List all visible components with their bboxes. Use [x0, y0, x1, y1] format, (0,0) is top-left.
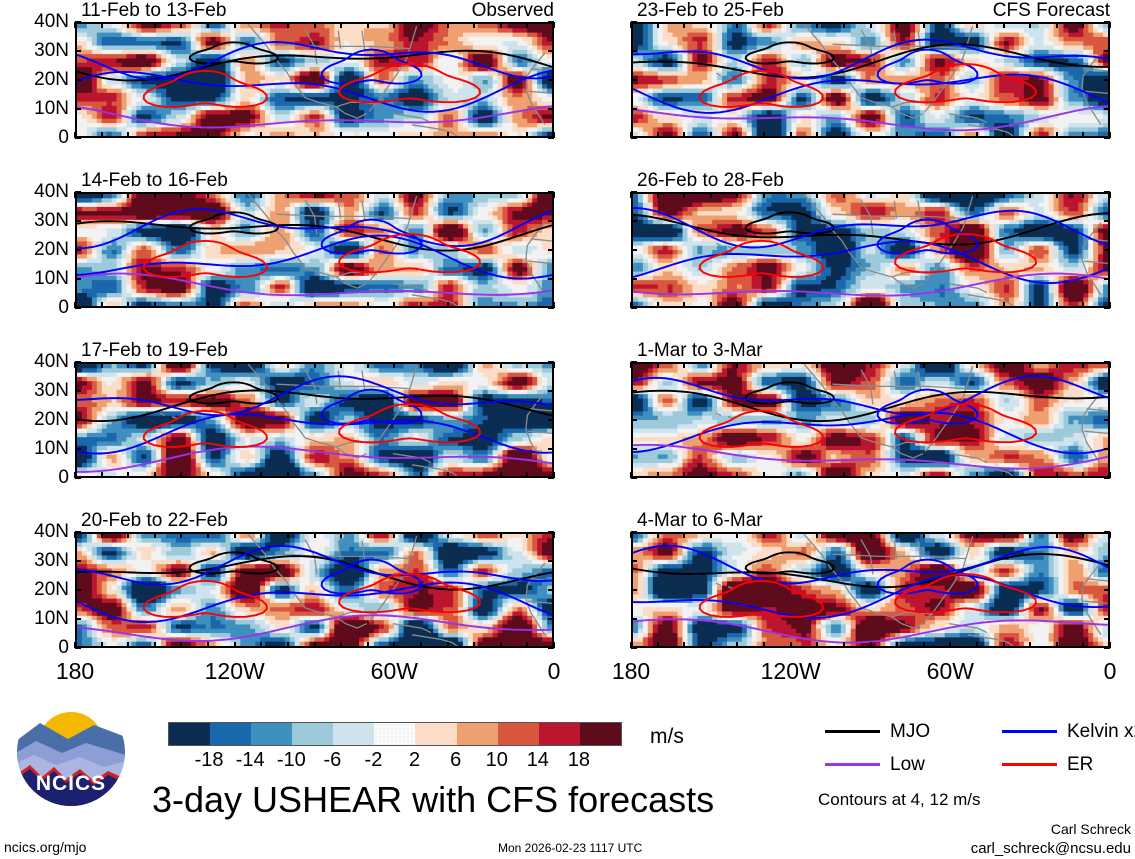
x-tick — [127, 472, 129, 478]
y-tick — [548, 560, 554, 562]
x-tick — [843, 642, 845, 648]
x-tick — [180, 642, 182, 648]
x-tick — [683, 22, 685, 28]
y-tick — [631, 79, 637, 81]
x-tick — [367, 22, 369, 28]
legend-line-1 — [1002, 730, 1057, 733]
legend-label-3: ER — [1067, 755, 1093, 774]
y-axis-label: 10N — [7, 269, 69, 288]
y-tick — [1104, 448, 1110, 450]
y-tick — [548, 589, 554, 591]
x-tick — [1056, 362, 1058, 368]
x-tick — [314, 192, 316, 198]
x-tick — [154, 642, 156, 648]
x-tick — [180, 192, 182, 198]
x-tick — [710, 362, 712, 368]
x-tick — [843, 472, 845, 478]
y-tick — [548, 448, 554, 450]
x-tick — [816, 532, 818, 538]
y-tick — [548, 249, 554, 251]
x-tick — [736, 192, 738, 198]
x-tick — [287, 302, 289, 308]
colorbar-segment-5 — [374, 723, 415, 745]
x-tick — [154, 302, 156, 308]
y-tick — [1104, 79, 1110, 81]
y-tick — [548, 390, 554, 392]
x-tick — [976, 642, 978, 648]
x-tick — [127, 532, 129, 538]
x-tick — [1056, 132, 1058, 138]
x-tick — [260, 22, 262, 28]
colorbar-segment-7 — [457, 723, 498, 745]
x-tick — [74, 362, 76, 368]
x-tick — [473, 192, 475, 198]
x-tick — [736, 472, 738, 478]
colorbar-segment-1 — [210, 723, 251, 745]
y-tick — [1104, 390, 1110, 392]
x-tick — [393, 22, 395, 28]
y-tick — [75, 79, 81, 81]
x-tick — [630, 22, 632, 28]
x-tick — [949, 362, 951, 368]
x-tick — [500, 302, 502, 308]
x-tick — [657, 642, 659, 648]
legend-line-0 — [825, 730, 880, 733]
x-tick — [923, 302, 925, 308]
x-tick — [553, 532, 555, 538]
x-tick — [367, 472, 369, 478]
legend-line-3 — [1002, 763, 1057, 766]
y-axis-label: 10N — [7, 439, 69, 458]
x-tick — [1082, 132, 1084, 138]
x-tick — [74, 192, 76, 198]
x-tick — [816, 642, 818, 648]
plot-panel-1-1 — [631, 192, 1110, 308]
column-header-0: Observed — [75, 1, 554, 20]
x-tick — [447, 192, 449, 198]
x-tick — [314, 532, 316, 538]
x-tick — [976, 362, 978, 368]
x-tick — [657, 22, 659, 28]
legend-label-0: MJO — [890, 722, 930, 741]
x-tick — [473, 302, 475, 308]
x-tick — [526, 302, 528, 308]
x-tick — [896, 132, 898, 138]
x-tick — [447, 132, 449, 138]
x-tick — [1029, 132, 1031, 138]
legend-label-2: Low — [890, 755, 925, 774]
x-tick — [1082, 362, 1084, 368]
plot-panel-0-2 — [75, 362, 554, 478]
x-tick — [683, 472, 685, 478]
y-tick — [75, 560, 81, 562]
x-tick — [710, 472, 712, 478]
x-tick — [154, 22, 156, 28]
x-tick — [180, 532, 182, 538]
colorbar-segment-0 — [169, 723, 210, 745]
plot-panel-0-0 — [75, 22, 554, 138]
x-tick — [180, 472, 182, 478]
x-tick — [74, 472, 76, 478]
x-tick — [763, 192, 765, 198]
x-tick — [127, 642, 129, 648]
x-tick — [870, 192, 872, 198]
x-tick — [340, 532, 342, 538]
y-axis-label: 40N — [7, 12, 69, 31]
x-tick — [1082, 302, 1084, 308]
x-tick — [870, 472, 872, 478]
x-tick — [949, 132, 951, 138]
x-tick — [1109, 302, 1111, 308]
x-tick — [736, 132, 738, 138]
y-tick — [1104, 220, 1110, 222]
x-tick — [340, 192, 342, 198]
plot-panel-1-2 — [631, 362, 1110, 478]
x-tick — [500, 192, 502, 198]
y-axis-label: 0 — [7, 468, 69, 487]
colorbar-segment-8 — [498, 723, 539, 745]
y-tick — [75, 108, 81, 110]
x-tick — [949, 302, 951, 308]
y-tick — [75, 278, 81, 280]
x-tick — [1029, 302, 1031, 308]
x-tick — [896, 192, 898, 198]
x-tick — [790, 362, 792, 368]
x-tick — [683, 642, 685, 648]
x-tick — [553, 472, 555, 478]
x-tick — [1109, 532, 1111, 538]
x-tick — [870, 132, 872, 138]
x-tick — [553, 302, 555, 308]
x-tick — [736, 302, 738, 308]
x-tick — [260, 532, 262, 538]
page-title: 3-day USHEAR with CFS forecasts — [152, 782, 714, 818]
x-tick — [1003, 642, 1005, 648]
x-tick — [526, 22, 528, 28]
y-axis-label: 30N — [7, 381, 69, 400]
x-tick — [473, 532, 475, 538]
x-tick — [314, 642, 316, 648]
x-tick — [763, 362, 765, 368]
x-tick — [896, 362, 898, 368]
x-tick — [101, 22, 103, 28]
x-tick — [101, 362, 103, 368]
x-tick — [630, 532, 632, 538]
y-axis-label: 20N — [7, 410, 69, 429]
x-tick — [1029, 22, 1031, 28]
y-tick — [75, 50, 81, 52]
y-axis-label: 30N — [7, 551, 69, 570]
x-tick — [790, 302, 792, 308]
colorbar-units-label: m/s — [650, 726, 684, 747]
x-axis-label: 120W — [190, 660, 280, 683]
y-axis-label: 20N — [7, 240, 69, 259]
x-tick — [500, 472, 502, 478]
x-tick — [843, 302, 845, 308]
x-tick — [420, 472, 422, 478]
x-tick — [976, 132, 978, 138]
x-tick — [736, 532, 738, 538]
x-tick — [553, 132, 555, 138]
x-tick — [976, 192, 978, 198]
x-tick — [447, 22, 449, 28]
y-axis-label: 40N — [7, 352, 69, 371]
x-tick — [74, 642, 76, 648]
x-tick — [340, 302, 342, 308]
x-tick — [287, 132, 289, 138]
x-tick — [74, 22, 76, 28]
x-tick — [74, 532, 76, 538]
x-tick — [816, 22, 818, 28]
x-tick — [234, 302, 236, 308]
x-tick — [101, 472, 103, 478]
y-tick — [631, 220, 637, 222]
x-tick — [1056, 22, 1058, 28]
y-tick — [1104, 108, 1110, 110]
x-tick — [340, 642, 342, 648]
x-tick — [1109, 362, 1111, 368]
colorbar-segment-9 — [539, 723, 580, 745]
x-tick — [949, 532, 951, 538]
x-tick — [127, 132, 129, 138]
x-tick — [367, 132, 369, 138]
x-tick — [816, 302, 818, 308]
x-tick — [870, 22, 872, 28]
x-tick — [657, 472, 659, 478]
y-axis-label: 20N — [7, 70, 69, 89]
x-tick — [949, 642, 951, 648]
footer-author: Carl Schreck — [895, 822, 1131, 836]
y-tick — [1104, 278, 1110, 280]
y-tick — [75, 448, 81, 450]
x-tick — [870, 642, 872, 648]
x-axis-label: 0 — [1065, 660, 1135, 683]
x-tick — [207, 362, 209, 368]
x-tick — [1029, 532, 1031, 538]
x-tick — [657, 362, 659, 368]
x-tick — [683, 532, 685, 538]
y-tick — [631, 618, 637, 620]
x-tick — [1109, 472, 1111, 478]
colorbar-segment-6 — [415, 723, 456, 745]
x-tick — [234, 472, 236, 478]
x-tick — [1003, 192, 1005, 198]
x-tick — [630, 642, 632, 648]
y-tick — [548, 50, 554, 52]
y-tick — [631, 448, 637, 450]
legend-line-2 — [825, 763, 880, 766]
x-tick — [630, 302, 632, 308]
colorbar-tick-9: 18 — [549, 750, 609, 770]
panel-title-0-1: 14-Feb to 16-Feb — [81, 171, 228, 190]
x-tick — [340, 132, 342, 138]
x-tick — [790, 532, 792, 538]
x-tick — [367, 192, 369, 198]
y-axis-label: 10N — [7, 609, 69, 628]
x-tick — [207, 532, 209, 538]
x-tick — [314, 132, 316, 138]
x-tick — [1003, 302, 1005, 308]
x-tick — [1003, 132, 1005, 138]
colorbar-segment-3 — [292, 723, 333, 745]
ncics-logo: NCICS — [16, 697, 126, 807]
x-tick — [207, 642, 209, 648]
y-tick — [1104, 560, 1110, 562]
x-tick — [630, 192, 632, 198]
x-tick — [154, 362, 156, 368]
x-tick — [976, 302, 978, 308]
x-tick — [896, 532, 898, 538]
y-axis-label: 40N — [7, 182, 69, 201]
x-tick — [260, 302, 262, 308]
x-tick — [1082, 22, 1084, 28]
y-tick — [548, 108, 554, 110]
x-tick — [736, 362, 738, 368]
ncics-logo-text: NCICS — [16, 773, 126, 794]
x-tick — [553, 362, 555, 368]
x-tick — [1082, 642, 1084, 648]
x-tick — [790, 22, 792, 28]
x-tick — [923, 132, 925, 138]
x-tick — [420, 642, 422, 648]
x-tick — [180, 22, 182, 28]
x-tick — [630, 362, 632, 368]
x-tick — [260, 192, 262, 198]
x-tick — [790, 472, 792, 478]
panel-title-0-2: 17-Feb to 19-Feb — [81, 341, 228, 360]
y-tick — [1104, 589, 1110, 591]
x-tick — [976, 472, 978, 478]
x-tick — [553, 22, 555, 28]
x-tick — [260, 362, 262, 368]
x-tick — [870, 302, 872, 308]
x-tick — [473, 472, 475, 478]
plot-panel-0-3 — [75, 532, 554, 648]
x-tick — [260, 132, 262, 138]
x-tick — [526, 642, 528, 648]
x-tick — [447, 472, 449, 478]
y-tick — [1104, 249, 1110, 251]
x-tick — [843, 192, 845, 198]
x-tick — [473, 642, 475, 648]
x-tick — [314, 472, 316, 478]
x-tick — [74, 302, 76, 308]
x-tick — [393, 302, 395, 308]
x-tick — [367, 642, 369, 648]
x-tick — [1003, 532, 1005, 538]
x-tick — [367, 362, 369, 368]
x-tick — [101, 132, 103, 138]
x-tick — [234, 642, 236, 648]
x-tick — [447, 642, 449, 648]
x-tick — [896, 22, 898, 28]
x-tick — [447, 532, 449, 538]
x-tick — [420, 302, 422, 308]
y-tick — [1104, 419, 1110, 421]
y-tick — [631, 589, 637, 591]
y-axis-label: 20N — [7, 580, 69, 599]
y-tick — [631, 560, 637, 562]
x-tick — [736, 642, 738, 648]
x-tick — [896, 472, 898, 478]
x-tick — [683, 302, 685, 308]
x-tick — [526, 192, 528, 198]
y-tick — [548, 618, 554, 620]
x-tick — [657, 532, 659, 538]
x-tick — [207, 472, 209, 478]
column-header-1: CFS Forecast — [631, 1, 1110, 20]
x-tick — [683, 362, 685, 368]
x-tick — [367, 532, 369, 538]
x-axis-label: 180 — [30, 660, 120, 683]
y-axis-label: 40N — [7, 522, 69, 541]
x-tick — [314, 302, 316, 308]
x-tick — [154, 532, 156, 538]
x-tick — [500, 532, 502, 538]
x-tick — [314, 362, 316, 368]
x-tick — [790, 132, 792, 138]
y-tick — [75, 390, 81, 392]
x-tick — [553, 192, 555, 198]
x-tick — [367, 302, 369, 308]
x-tick — [710, 642, 712, 648]
y-tick — [631, 390, 637, 392]
x-tick — [500, 132, 502, 138]
x-tick — [896, 642, 898, 648]
x-axis-label: 60W — [905, 660, 995, 683]
x-tick — [1003, 22, 1005, 28]
colorbar-segment-2 — [251, 723, 292, 745]
x-tick — [976, 532, 978, 538]
x-tick — [870, 362, 872, 368]
x-tick — [1109, 192, 1111, 198]
x-tick — [1109, 642, 1111, 648]
x-tick — [500, 22, 502, 28]
x-axis-label: 120W — [746, 660, 836, 683]
x-tick — [923, 362, 925, 368]
x-tick — [526, 532, 528, 538]
x-tick — [101, 532, 103, 538]
x-tick — [420, 362, 422, 368]
x-tick — [1082, 472, 1084, 478]
x-tick — [763, 132, 765, 138]
x-tick — [393, 472, 395, 478]
x-tick — [127, 302, 129, 308]
x-tick — [896, 302, 898, 308]
colorbar-segment-10 — [580, 723, 621, 745]
x-tick — [473, 132, 475, 138]
x-tick — [287, 362, 289, 368]
panel-title-1-2: 1-Mar to 3-Mar — [637, 341, 763, 360]
x-tick — [710, 302, 712, 308]
x-tick — [154, 472, 156, 478]
x-tick — [234, 192, 236, 198]
x-tick — [763, 22, 765, 28]
x-tick — [870, 532, 872, 538]
x-tick — [127, 22, 129, 28]
y-tick — [75, 249, 81, 251]
footer-email: carl_schreck@ncsu.edu — [855, 841, 1131, 856]
x-tick — [710, 22, 712, 28]
x-tick — [763, 472, 765, 478]
x-tick — [790, 642, 792, 648]
plot-panel-1-0 — [631, 22, 1110, 138]
x-tick — [234, 362, 236, 368]
x-tick — [657, 302, 659, 308]
x-tick — [1029, 472, 1031, 478]
y-tick — [548, 79, 554, 81]
x-tick — [843, 532, 845, 538]
